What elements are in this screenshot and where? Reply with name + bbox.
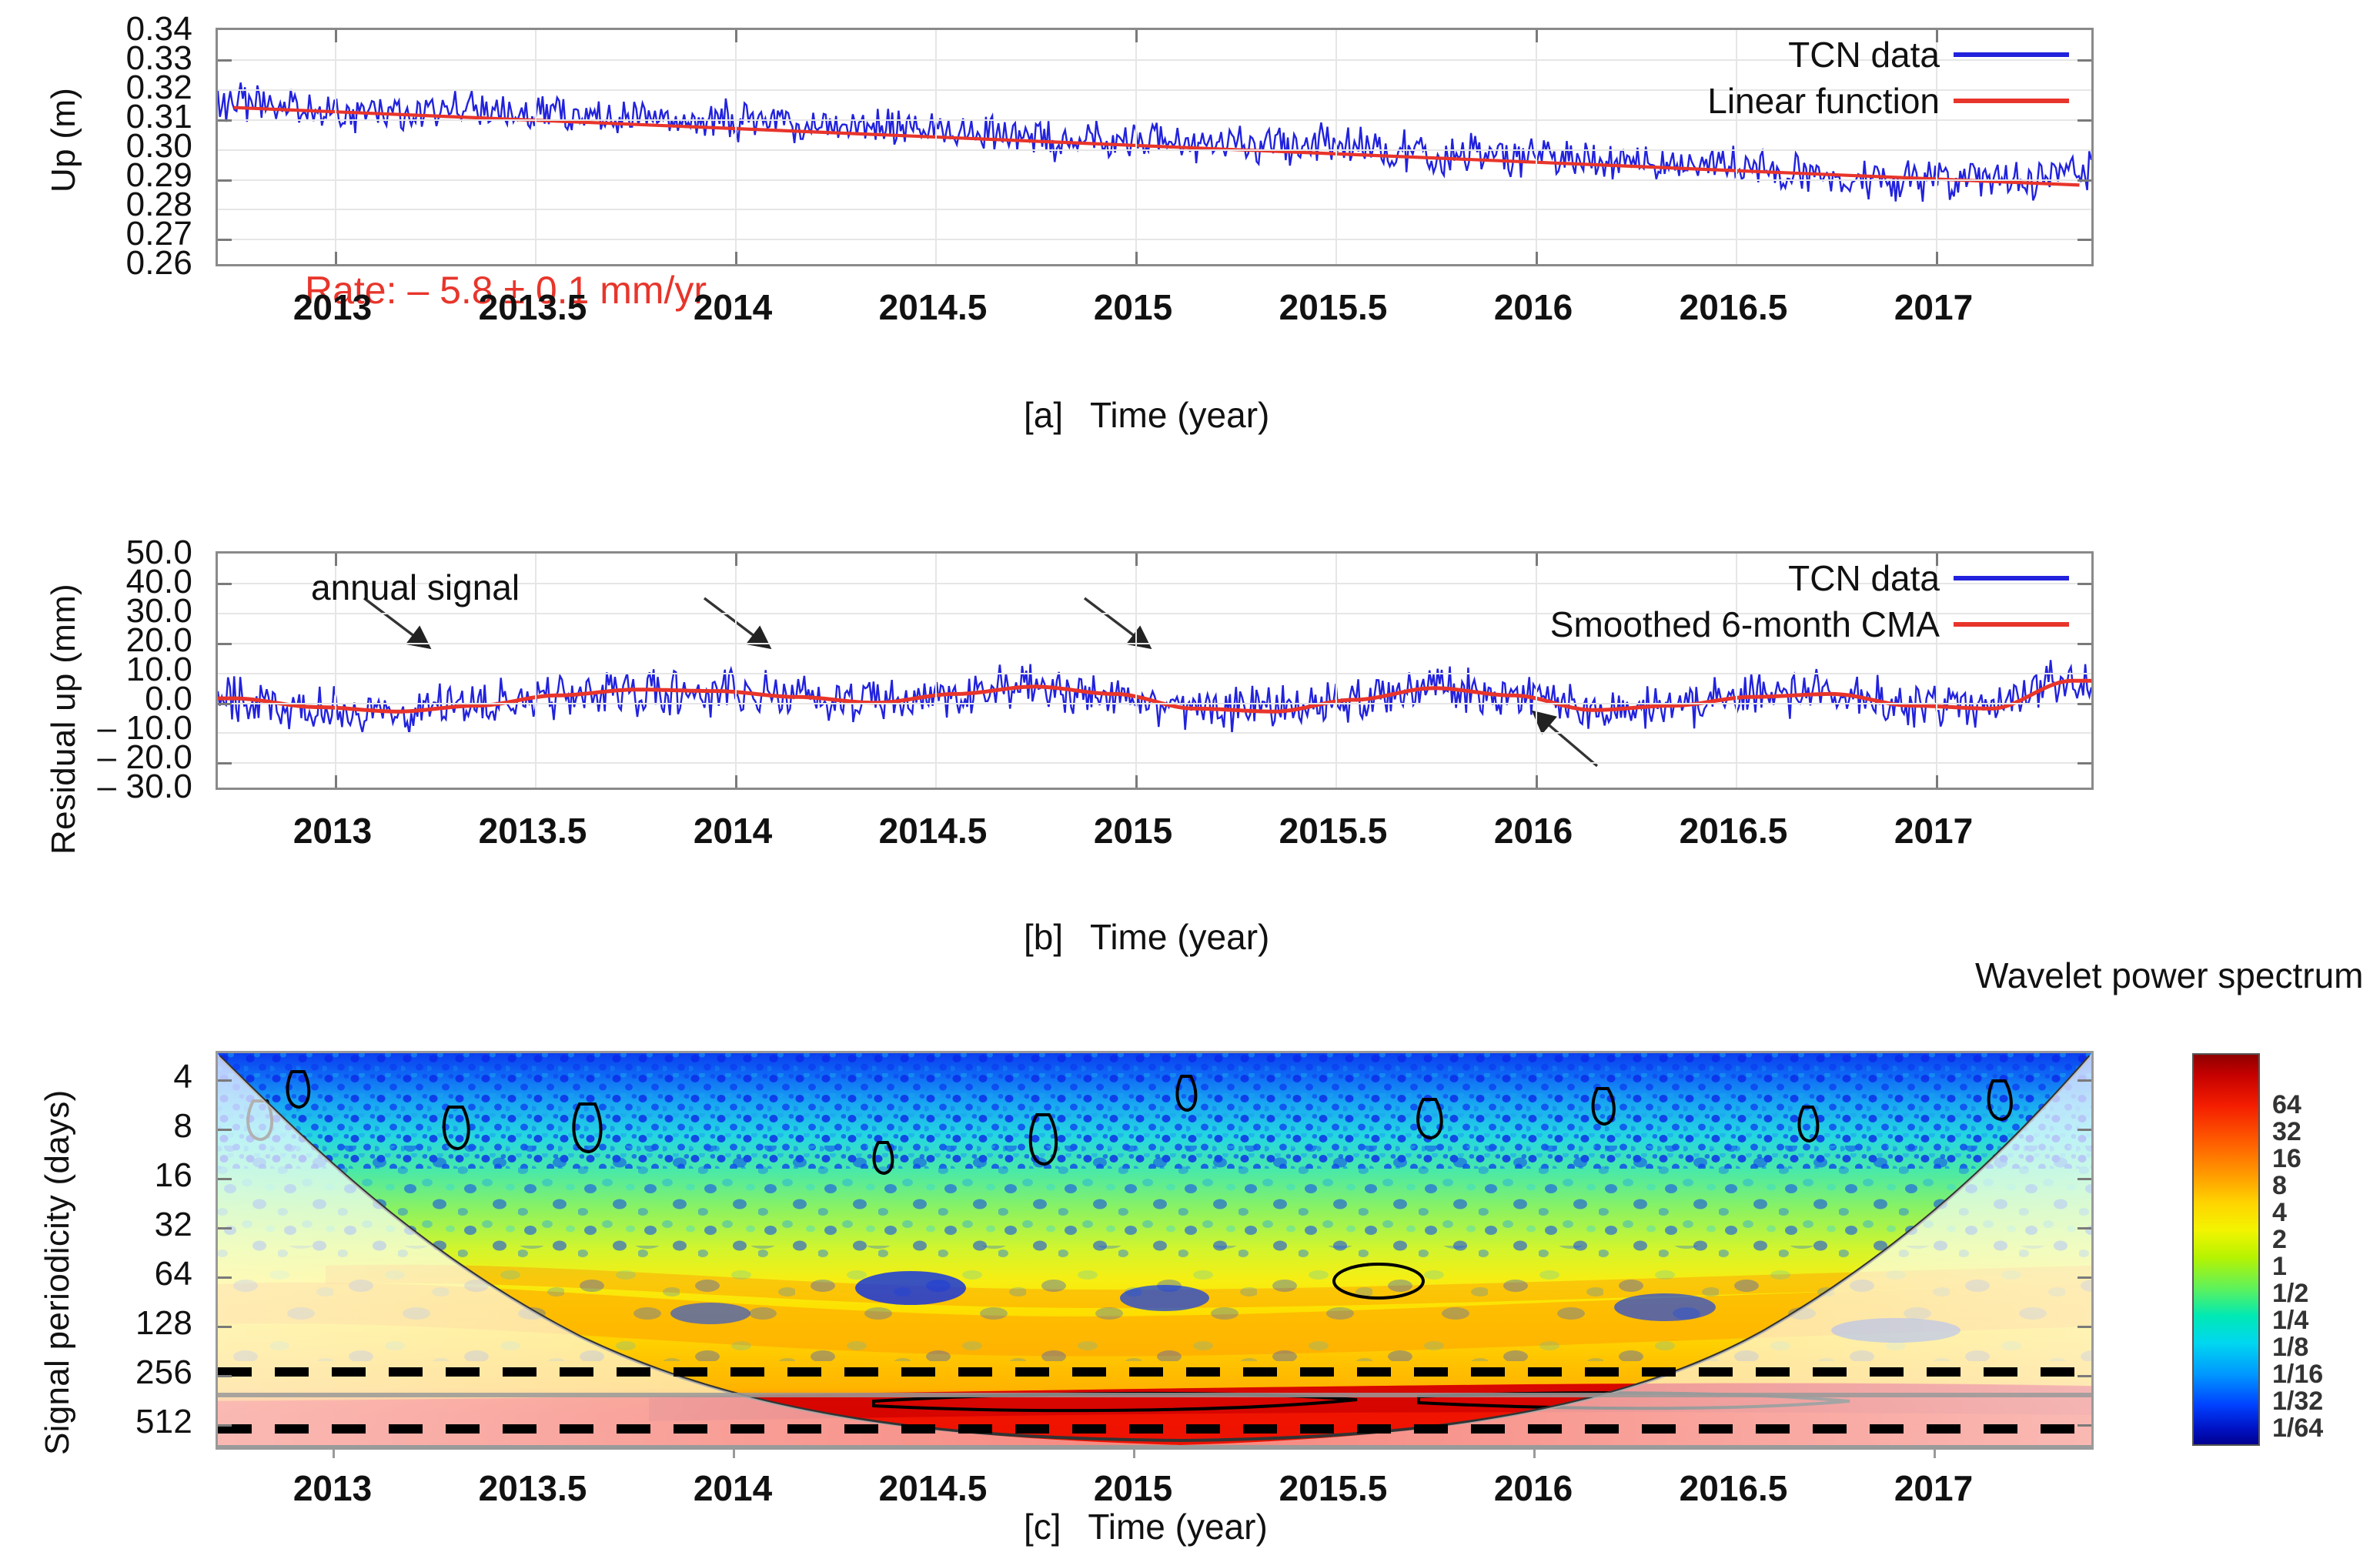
gridline-v [935, 30, 937, 264]
panel-c-ytick-labels: 4 8 16 32 64 128 256 512 [0, 955, 192, 1494]
ytick: 16 [155, 1156, 192, 1195]
gridline-v [535, 554, 537, 788]
panel-c: Signal periodicity (days) 4 8 16 32 64 1… [0, 955, 2380, 1549]
legend-item: Smoothed 6-month CMA [1550, 604, 2069, 645]
xtick: 2015 [1094, 1467, 1172, 1509]
xtick: 2013 [293, 1467, 372, 1509]
panel-c-xaxis-label: [c] Time (year) [1024, 1506, 1268, 1547]
colorbar-tick: 1/16 [2272, 1361, 2323, 1388]
gridline-h [218, 762, 2091, 764]
legend-swatch-tcn [1954, 576, 2069, 580]
gridline-v [735, 554, 737, 788]
panel-a-xaxis-label: [a] Time (year) [1024, 394, 1269, 436]
panel-c-plot-area [216, 1051, 2094, 1447]
xtick: 2014.5 [879, 286, 988, 328]
tickmark [2077, 1079, 2091, 1082]
tickmark [735, 775, 737, 788]
xtick: 2015 [1094, 286, 1172, 328]
gridline-v [1335, 30, 1337, 264]
tickmark [2077, 1227, 2091, 1229]
tickmark [2077, 1424, 2091, 1427]
tickmark [218, 762, 232, 764]
xtick: 2015.5 [1279, 286, 1388, 328]
tickmark [1936, 775, 1938, 788]
tickmark [1536, 554, 1538, 566]
tickmark [735, 30, 737, 42]
tickmark [2077, 583, 2091, 585]
tickmark [1135, 775, 1138, 788]
legend-item: TCN data [1788, 557, 2069, 599]
xtick: 2016.5 [1680, 286, 1788, 328]
panel-b: Residual up (mm) 50.0 40.0 30.0 20.0 10.… [0, 524, 2380, 955]
panel-c-xlabel: Time (year) [1088, 1507, 1267, 1547]
xtick: 2017 [1894, 1467, 1973, 1509]
panel-c-tag: [c] [1024, 1507, 1061, 1547]
xtick: 2016 [1494, 286, 1573, 328]
xtick: 2013 [293, 810, 372, 851]
xtick: 2013.5 [479, 1467, 587, 1509]
ytick: 0.26 [126, 244, 192, 283]
tickmark [2077, 1129, 2091, 1131]
panel-b-tag: [b] [1024, 917, 1063, 957]
xtick: 2013.5 [479, 810, 587, 851]
tickmark [2077, 1326, 2091, 1328]
xtick: 2014 [694, 1467, 772, 1509]
ytick: 8 [173, 1107, 192, 1146]
tickmark [218, 119, 232, 122]
tickmark [218, 59, 232, 62]
panel-b-ytick-labels: 50.0 40.0 30.0 20.0 10.0 0.0 – 10.0 – 20… [0, 524, 192, 878]
tickmark [2077, 643, 2091, 645]
colorbar-tick: 2 [2272, 1226, 2323, 1253]
colorbar-title: Wavelet power spectrum [1975, 955, 2363, 996]
tickmark [1536, 30, 1538, 42]
ytick: 32 [155, 1206, 192, 1244]
ytick: – 30.0 [97, 768, 192, 806]
gridline-h [218, 239, 2091, 240]
tickmark [218, 703, 232, 705]
ytick: 64 [155, 1255, 192, 1293]
tickmark [218, 583, 232, 585]
panel-b-legend: TCN data Smoothed 6-month CMA [1550, 557, 2069, 645]
gridline-v [1335, 554, 1337, 788]
legend-label: TCN data [1788, 557, 1940, 599]
panel-a-xlabel: Time (year) [1090, 395, 1269, 435]
tickmark [2077, 1375, 2091, 1377]
colorbar-tick: 8 [2272, 1173, 2323, 1199]
tickmark [218, 1326, 232, 1328]
tickmark [335, 252, 337, 264]
tickmark [335, 30, 337, 42]
legend-label: Smoothed 6-month CMA [1550, 604, 1940, 645]
colorbar [2192, 1053, 2260, 1446]
colorbar-tick: 1/8 [2272, 1334, 2323, 1361]
tickmark [218, 1375, 232, 1377]
gridline-h [218, 673, 2091, 674]
xtick: 2014.5 [879, 1467, 988, 1509]
tickmark [1135, 554, 1138, 566]
xtick: 2015.5 [1279, 810, 1388, 851]
panel-c-xaxis-line [216, 1447, 2094, 1450]
legend-label: Linear function [1707, 80, 1940, 122]
tickmark [1135, 30, 1138, 42]
xtick: 2017 [1894, 810, 1973, 851]
panel-b-xaxis-label: [b] Time (year) [1024, 916, 1269, 958]
tickmark [1536, 775, 1538, 788]
tickmark [218, 1227, 232, 1229]
panel-b-xlabel: Time (year) [1090, 917, 1269, 957]
tickmark [2077, 119, 2091, 122]
tickmark [218, 1424, 232, 1427]
xtick: 2013 [293, 286, 372, 328]
tickmark [218, 1276, 232, 1279]
tickmark [2077, 59, 2091, 62]
ytick: 128 [135, 1304, 192, 1343]
xtick: 2016.5 [1680, 810, 1788, 851]
gridline-v [735, 30, 737, 264]
tickmark [218, 1129, 232, 1131]
legend-label: TCN data [1788, 34, 1940, 75]
gridline-v [1135, 554, 1137, 788]
tickmark [218, 1178, 232, 1180]
colorbar-tick: 64 [2272, 1092, 2323, 1119]
gridline-v [935, 554, 937, 788]
tickmark [2077, 179, 2091, 182]
tickmark [1135, 252, 1138, 264]
xtick: 2014.5 [879, 810, 988, 851]
xtick: 2016 [1494, 1467, 1573, 1509]
panel-a-tag: [a] [1024, 395, 1063, 435]
panel-b-annual-signal-label: annual signal [311, 567, 520, 608]
xtick: 2016 [1494, 810, 1573, 851]
tickmark [218, 1079, 232, 1082]
panel-a: Up (m) 0.34 0.33 0.32 0.31 0.30 0.29 0.2… [0, 0, 2380, 462]
legend-swatch-tcn [1954, 52, 2069, 57]
tickmark [335, 554, 337, 566]
ytick: 512 [135, 1403, 192, 1441]
gridline-v [1536, 554, 1537, 788]
legend-swatch-linear [1954, 99, 2069, 103]
colorbar-tick: 1/2 [2272, 1280, 2323, 1307]
xtick: 2014 [694, 286, 772, 328]
colorbar-tick: 1 [2272, 1253, 2323, 1280]
tickmark [335, 775, 337, 788]
tickmark [735, 554, 737, 566]
legend-item: TCN data [1788, 34, 2069, 75]
xtick: 2014 [694, 810, 772, 851]
gridline-h [218, 149, 2091, 151]
gridline-v [1135, 30, 1137, 264]
colorbar-tick: 1/4 [2272, 1307, 2323, 1334]
gridline-h [218, 703, 2091, 704]
legend-item: Linear function [1707, 80, 2069, 122]
tickmark [1936, 252, 1938, 264]
gridline-v [535, 30, 537, 264]
gridline-h [218, 209, 2091, 210]
legend-swatch-cma [1954, 622, 2069, 627]
colorbar-tick-labels: 64 32 16 8 4 2 1 1/2 1/4 1/8 1/16 1/32 1… [2272, 1092, 2323, 1400]
tickmark [218, 179, 232, 182]
ytick: 256 [135, 1353, 192, 1392]
colorbar-tick: 32 [2272, 1119, 2323, 1146]
tickmark [2077, 762, 2091, 764]
panel-a-legend: TCN data Linear function [1707, 34, 2069, 122]
colorbar-tick: 1/64 [2272, 1415, 2323, 1442]
tickmark [2077, 1178, 2091, 1180]
gridline-h [218, 179, 2091, 181]
colorbar-tick: 1/32 [2272, 1388, 2323, 1415]
gridline-v [1536, 30, 1537, 264]
gridline-h [218, 732, 2091, 734]
xtick: 2017 [1894, 286, 1973, 328]
gridline-v [335, 30, 336, 264]
tickmark [2077, 239, 2091, 241]
colorbar-tick: 4 [2272, 1199, 2323, 1226]
xtick: 2013.5 [479, 286, 587, 328]
ytick: 4 [173, 1058, 192, 1096]
xtick: 2016.5 [1680, 1467, 1788, 1509]
tickmark [218, 239, 232, 241]
panel-a-ytick-labels: 0.34 0.33 0.32 0.31 0.30 0.29 0.28 0.27 … [0, 0, 192, 354]
xtick: 2015.5 [1279, 1467, 1388, 1509]
tickmark [2077, 703, 2091, 705]
xtick: 2015 [1094, 810, 1172, 851]
colorbar-tick: 16 [2272, 1146, 2323, 1173]
annual-signal-arrow-3 [1085, 598, 1148, 646]
tickmark [1536, 252, 1538, 264]
tickmark [218, 643, 232, 645]
wavelet-spectrum-image [218, 1053, 2091, 1445]
tickmark [735, 252, 737, 264]
tickmark [2077, 1276, 2091, 1279]
